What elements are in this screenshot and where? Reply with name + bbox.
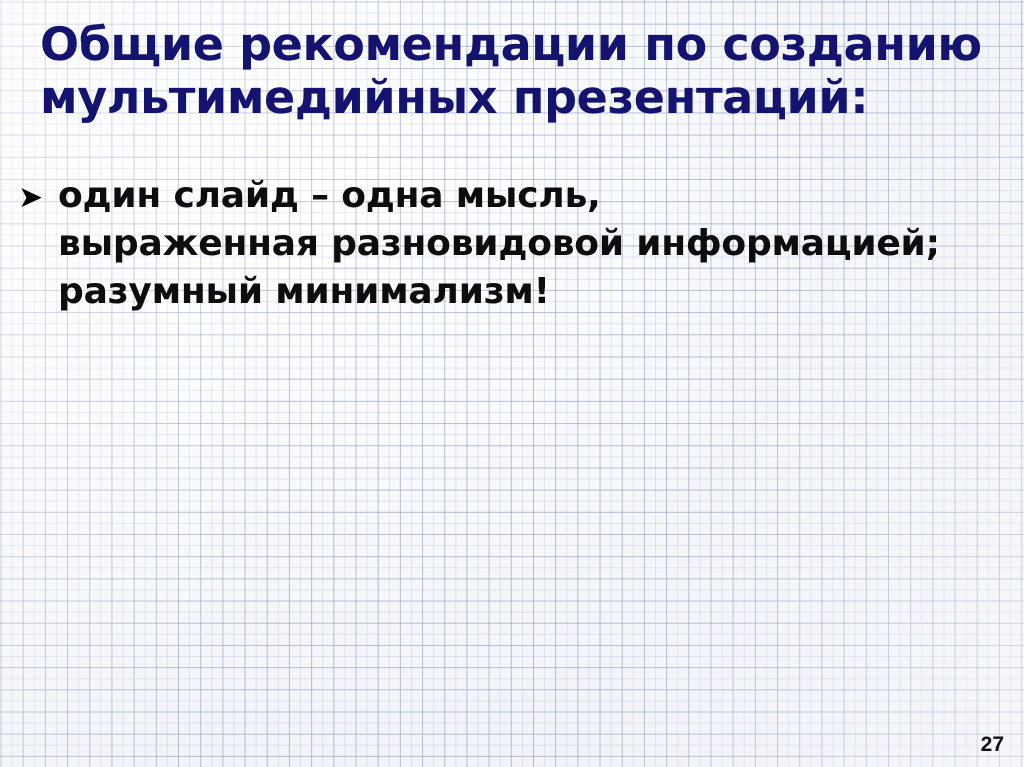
body-line-3: разумный минимализм!: [58, 268, 1018, 316]
slide-canvas: Общие рекомендации по созданию мультимед…: [0, 0, 1024, 767]
bullet-text-group: один слайд – одна мысль, выраженная разн…: [58, 172, 1018, 316]
arrow-bullet-icon: ➤: [18, 172, 58, 218]
page-number: 27: [981, 733, 1004, 757]
body-line-2: выраженная разновидовой информацией;: [58, 220, 1018, 268]
body-content: ➤ один слайд – одна мысль, выраженная ра…: [18, 172, 1018, 316]
body-line-1: один слайд – одна мысль,: [58, 172, 1018, 220]
list-item: ➤ один слайд – одна мысль, выраженная ра…: [18, 172, 1018, 316]
page-title: Общие рекомендации по созданию мультимед…: [40, 18, 984, 124]
title-line-2: мультимедийных презентаций:: [40, 71, 984, 124]
title-line-1: Общие рекомендации по созданию: [40, 18, 984, 71]
